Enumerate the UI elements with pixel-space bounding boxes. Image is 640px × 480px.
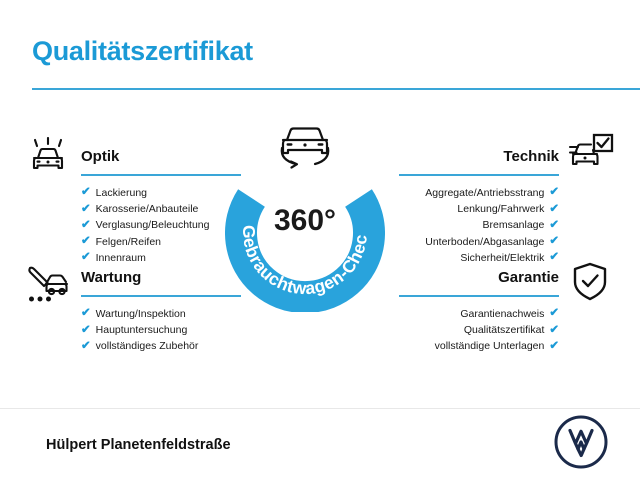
check-icon: ✔ — [81, 187, 91, 199]
section-title: Wartung — [81, 267, 241, 289]
section-divider — [81, 174, 241, 176]
shield-check-icon — [570, 261, 610, 308]
certificate-page: Qualitätszertifikat — [0, 0, 640, 480]
list-item-label: Aggregate/Antriebsstrang — [425, 185, 544, 201]
checklist: Garantienachweis✔ Qualitätszertifikat✔ v… — [399, 306, 559, 355]
section-divider — [399, 174, 559, 176]
list-item-label: vollständige Unterlagen — [435, 338, 545, 354]
list-item-label: Karosserie/Anbauteile — [96, 201, 199, 217]
check-icon: ✔ — [549, 236, 559, 248]
list-item: ✔Felgen/Reifen — [81, 234, 241, 250]
list-item: ✔Wartung/Inspektion — [81, 306, 241, 322]
section-title: Garantie — [399, 267, 559, 289]
checklist: Aggregate/Antriebsstrang✔ Lenkung/Fahrwe… — [399, 185, 559, 266]
list-item: Aggregate/Antriebsstrang✔ — [399, 185, 559, 201]
list-item: ✔Karosserie/Anbauteile — [81, 201, 241, 217]
section-header: Optik — [81, 146, 241, 172]
list-item-label: Qualitätszertifikat — [464, 322, 545, 338]
check-icon: ✔ — [81, 236, 91, 248]
list-item: ✔Hauptuntersuchung — [81, 322, 241, 338]
list-item-label: Hauptuntersuchung — [96, 322, 188, 338]
check-icon: ✔ — [81, 308, 91, 320]
section-header: Wartung — [81, 267, 241, 293]
dealer-name: Hülpert Planetenfeldstraße — [46, 437, 231, 453]
check-icon: ✔ — [81, 204, 91, 216]
list-item-label: Lackierung — [96, 185, 147, 201]
section-wartung: Wartung ✔Wartung/Inspektion ✔Hauptunters… — [81, 267, 241, 355]
list-item: Lenkung/Fahrwerk✔ — [399, 201, 559, 217]
section-divider — [81, 295, 241, 297]
list-item-label: Bremsanlage — [482, 217, 544, 233]
section-technik: Technik Aggregate/Antriebsstrang✔ Lenkun… — [399, 146, 559, 266]
car-rotate-icon — [270, 120, 340, 180]
badge-degrees: 360° — [225, 204, 385, 238]
check-icon: ✔ — [549, 187, 559, 199]
list-item: Qualitätszertifikat✔ — [399, 322, 559, 338]
section-title: Optik — [81, 146, 241, 168]
car-wrench-icon — [25, 262, 71, 309]
list-item: Bremsanlage✔ — [399, 217, 559, 233]
list-item: Unterboden/Abgasanlage✔ — [399, 234, 559, 250]
list-item: vollständige Unterlagen✔ — [399, 338, 559, 354]
list-item: ✔Lackierung — [81, 185, 241, 201]
check-icon: ✔ — [549, 308, 559, 320]
list-item: Sicherheit/Elektrik✔ — [399, 250, 559, 266]
list-item: ✔Innenraum — [81, 250, 241, 266]
check-icon: ✔ — [549, 325, 559, 337]
section-garantie: Garantie Garantienachweis✔ Qualitätszert… — [399, 267, 559, 355]
checklist: ✔Lackierung ✔Karosserie/Anbauteile ✔Verg… — [81, 185, 241, 266]
car-checkbox-icon — [567, 133, 615, 182]
section-title: Technik — [399, 146, 559, 168]
list-item-label: Garantienachweis — [460, 306, 544, 322]
list-item: ✔Verglasung/Beleuchtung — [81, 217, 241, 233]
list-item: Garantienachweis✔ — [399, 306, 559, 322]
check-icon: ✔ — [81, 341, 91, 353]
list-item-label: Felgen/Reifen — [96, 234, 161, 250]
check-icon: ✔ — [81, 220, 91, 232]
section-header: Garantie — [399, 267, 559, 293]
vw-logo — [553, 414, 609, 470]
check-icon: ✔ — [549, 252, 559, 264]
list-item: ✔vollständiges Zubehör — [81, 338, 241, 354]
checklist: ✔Wartung/Inspektion ✔Hauptuntersuchung ✔… — [81, 306, 241, 355]
header-divider — [32, 88, 640, 90]
list-item-label: Lenkung/Fahrwerk — [457, 201, 544, 217]
list-item-label: Verglasung/Beleuchtung — [96, 217, 210, 233]
list-item-label: Unterboden/Abgasanlage — [425, 234, 544, 250]
check-icon: ✔ — [549, 220, 559, 232]
check-icon: ✔ — [549, 204, 559, 216]
list-item-label: vollständiges Zubehör — [96, 338, 199, 354]
footer-divider — [0, 408, 640, 409]
section-divider — [399, 295, 559, 297]
list-item-label: Sicherheit/Elektrik — [460, 250, 544, 266]
list-item-label: Wartung/Inspektion — [96, 306, 186, 322]
car-shine-icon — [26, 137, 70, 182]
check-icon: ✔ — [81, 325, 91, 337]
check-icon: ✔ — [549, 341, 559, 353]
check-icon: ✔ — [81, 252, 91, 264]
page-title: Qualitätszertifikat — [32, 36, 253, 67]
section-optik: Optik ✔Lackierung ✔Karosserie/Anbauteile… — [81, 146, 241, 266]
section-header: Technik — [399, 146, 559, 172]
list-item-label: Innenraum — [96, 250, 146, 266]
